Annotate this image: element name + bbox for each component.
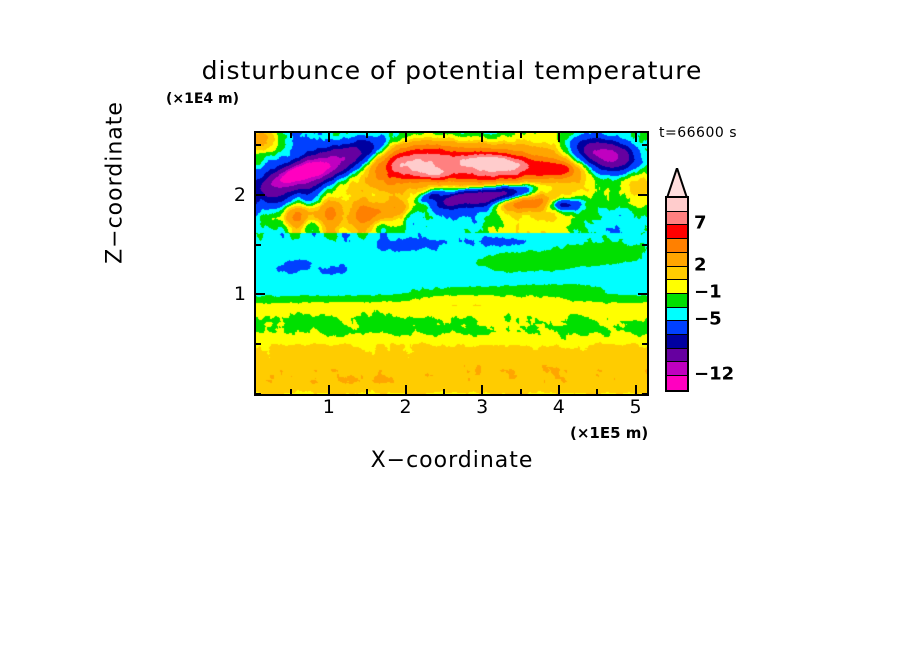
y-axis-title: Z−coordinate	[103, 63, 128, 303]
x-tick-label: 2	[399, 396, 411, 418]
colorbar-band	[667, 308, 687, 322]
time-annotation: t=66600 s	[659, 125, 737, 141]
x-tick-top	[635, 133, 637, 142]
colorbar-band	[667, 335, 687, 349]
y-tick-right	[638, 293, 647, 295]
y-tick-right	[642, 393, 647, 395]
y-tick-label: 2	[222, 184, 246, 206]
x-tick	[405, 385, 407, 394]
y-tick	[256, 194, 265, 196]
contour-plot-area	[254, 131, 649, 396]
x-tick-label: 4	[553, 396, 565, 418]
y-tick-label: 1	[222, 283, 246, 305]
page-title: disturbunce of potential temperature	[0, 56, 904, 85]
x-tick-label: 1	[323, 396, 335, 418]
y-tick-right	[642, 244, 647, 246]
y-tick	[256, 393, 261, 395]
colorbar-band	[667, 362, 687, 376]
colorbar-tick-label: 7	[694, 213, 707, 234]
y-tick	[256, 293, 265, 295]
x-tick	[481, 385, 483, 394]
x-tick-top	[558, 133, 560, 142]
x-tick-top	[481, 133, 483, 142]
colorbar-tick-label: −5	[694, 309, 722, 330]
x-tick	[366, 389, 368, 394]
colorbar-band	[667, 253, 687, 267]
x-tick	[596, 389, 598, 394]
x-tick	[558, 385, 560, 394]
x-tick	[520, 389, 522, 394]
x-tick-top	[405, 133, 407, 142]
y-tick	[256, 144, 261, 146]
x-tick-top	[443, 133, 445, 138]
contour-field-canvas	[256, 133, 647, 394]
x-axis-title: X−coordinate	[0, 448, 904, 473]
colorbar-band	[667, 321, 687, 335]
colorbar-band	[667, 267, 687, 281]
y-tick	[256, 244, 261, 246]
x-tick-label: 3	[476, 396, 488, 418]
x-axis-units-label: (×1E5 m)	[570, 424, 648, 442]
colorbar-band	[667, 376, 687, 390]
y-tick-right	[642, 343, 647, 345]
colorbar-arrow-icon	[665, 168, 689, 198]
colorbar-tick-label: −1	[694, 282, 722, 303]
colorbar-tick-label: 2	[694, 254, 707, 275]
y-axis-units-label: (×1E4 m)	[166, 91, 239, 107]
x-tick-top	[596, 133, 598, 138]
y-tick-right	[638, 194, 647, 196]
colorbar-band	[667, 212, 687, 226]
x-tick-label: 5	[629, 396, 641, 418]
y-tick-right	[642, 144, 647, 146]
colorbar-band	[667, 349, 687, 363]
x-tick	[443, 389, 445, 394]
colorbar-band	[667, 225, 687, 239]
x-tick-top	[328, 133, 330, 142]
colorbar-band	[667, 239, 687, 253]
colorbar-band	[667, 198, 687, 212]
x-tick	[290, 389, 292, 394]
x-tick	[635, 385, 637, 394]
colorbar-tick-label: −12	[694, 364, 734, 385]
colorbar-band	[667, 280, 687, 294]
x-tick-top	[366, 133, 368, 138]
colorbar-band	[667, 294, 687, 308]
x-tick-top	[520, 133, 522, 138]
x-tick-top	[290, 133, 292, 138]
y-tick	[256, 343, 261, 345]
colorbar	[665, 196, 689, 392]
x-tick	[328, 385, 330, 394]
